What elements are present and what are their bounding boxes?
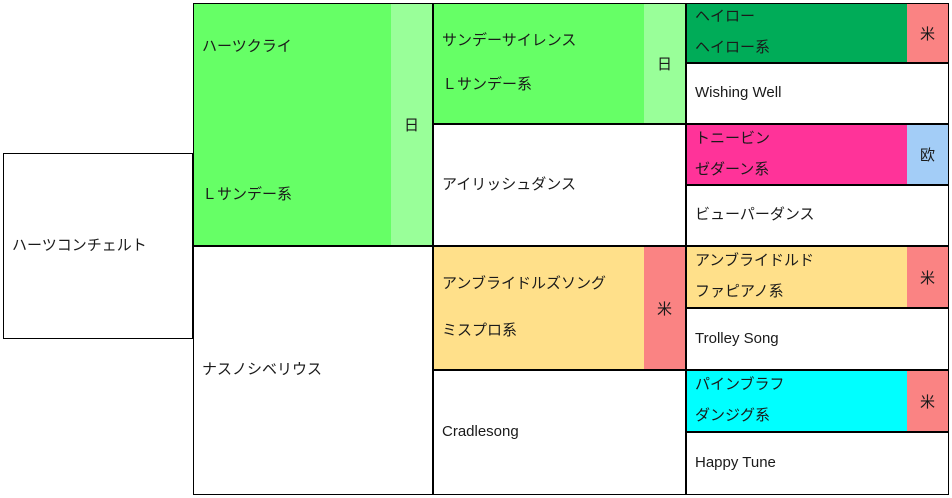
origin-badge-usa: 米 bbox=[644, 247, 685, 369]
horse-name: Happy Tune bbox=[695, 454, 940, 473]
origin-badge-europe: 欧 bbox=[907, 125, 948, 184]
horse-line: ヘイロー系 bbox=[695, 39, 898, 58]
pedigree-cell-sire-sire[interactable]: サンデーサイレンス Ｌサンデー系 日 bbox=[433, 3, 686, 124]
horse-name: Cradlesong bbox=[442, 423, 677, 442]
horse-name: アイリッシュダンス bbox=[442, 176, 677, 195]
pedigree-cell-gen3-5[interactable]: アンブライドルド ファピアノ系 米 bbox=[686, 246, 949, 308]
pedigree-cell-dam-dam[interactable]: Cradlesong bbox=[433, 370, 686, 495]
horse-line: Ｌサンデー系 bbox=[202, 186, 382, 205]
horse-line: ゼダーン系 bbox=[695, 161, 898, 180]
horse-name: ナスノシベリウス bbox=[202, 361, 424, 380]
pedigree-cell-dam[interactable]: ナスノシベリウス bbox=[193, 246, 433, 495]
pedigree-cell-gen3-2[interactable]: Wishing Well bbox=[686, 63, 949, 124]
pedigree-chart: ハーツコンチェルト ハーツクライ Ｌサンデー系 日 ナスノシベリウス サンデーサ… bbox=[0, 0, 952, 498]
horse-name: アンブライドルド bbox=[695, 252, 898, 271]
horse-name: ヘイロー bbox=[695, 8, 898, 27]
pedigree-cell-sire[interactable]: ハーツクライ Ｌサンデー系 日 bbox=[193, 3, 433, 246]
horse-name: ハーツコンチェルト bbox=[12, 237, 184, 256]
pedigree-cell-gen3-6[interactable]: Trolley Song bbox=[686, 308, 949, 370]
origin-badge-usa: 米 bbox=[907, 247, 948, 307]
pedigree-cell-gen3-4[interactable]: ビューパーダンス bbox=[686, 185, 949, 246]
horse-line: ファピアノ系 bbox=[695, 283, 898, 302]
horse-name: ハーツクライ bbox=[202, 38, 382, 57]
origin-badge-japan: 日 bbox=[391, 4, 432, 245]
origin-badge-usa: 米 bbox=[907, 4, 948, 62]
horse-name: Trolley Song bbox=[695, 330, 940, 349]
origin-badge-japan: 日 bbox=[644, 4, 685, 123]
horse-name: Wishing Well bbox=[695, 84, 940, 103]
horse-name: トニービン bbox=[695, 130, 898, 149]
horse-name: ビューパーダンス bbox=[695, 206, 940, 225]
pedigree-cell-dam-sire[interactable]: アンブライドルズソング ミスプロ系 米 bbox=[433, 246, 686, 370]
pedigree-cell-gen3-3[interactable]: トニービン ゼダーン系 欧 bbox=[686, 124, 949, 185]
pedigree-cell-gen3-1[interactable]: ヘイロー ヘイロー系 米 bbox=[686, 3, 949, 63]
pedigree-cell-root[interactable]: ハーツコンチェルト bbox=[3, 153, 193, 339]
horse-line: ダンジグ系 bbox=[695, 407, 898, 426]
horse-name: アンブライドルズソング bbox=[442, 275, 635, 294]
horse-name: サンデーサイレンス bbox=[442, 32, 635, 51]
horse-line: ミスプロ系 bbox=[442, 322, 635, 341]
origin-badge-usa: 米 bbox=[907, 371, 948, 431]
pedigree-cell-gen3-7[interactable]: パインブラフ ダンジグ系 米 bbox=[686, 370, 949, 432]
horse-name: パインブラフ bbox=[695, 376, 898, 395]
pedigree-cell-gen3-8[interactable]: Happy Tune bbox=[686, 432, 949, 495]
pedigree-cell-sire-dam[interactable]: アイリッシュダンス bbox=[433, 124, 686, 246]
horse-line: Ｌサンデー系 bbox=[442, 76, 635, 95]
